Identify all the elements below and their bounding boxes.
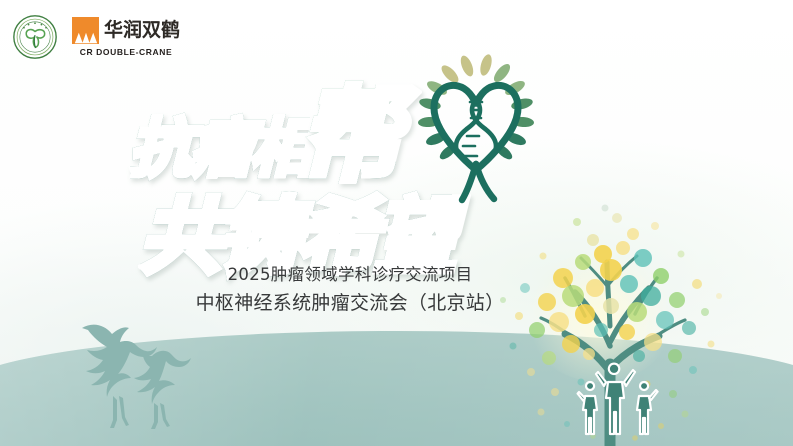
sponsor-chinese-name: 华润双鹤 [104, 21, 180, 40]
crane-small-leg-b [160, 403, 170, 427]
crane-large-leg-a [110, 396, 117, 428]
cr-double-crane-logo: 华润双鹤 CR DOUBLE-CRANE [72, 17, 180, 57]
two-cranes-silhouette [66, 312, 206, 434]
crane-large-leg-b [119, 396, 129, 426]
family-child-left [578, 382, 597, 434]
chevrons-glyph [74, 28, 98, 44]
family-of-three-silhouette [576, 362, 660, 440]
sponsor-english-name: CR DOUBLE-CRANE [80, 47, 173, 57]
family-child-right [637, 382, 658, 434]
heart-dna-leaves-emblem [410, 52, 542, 207]
mountain-chevrons-icon [72, 17, 99, 44]
ribbon-right [476, 164, 494, 199]
cr-logo-top-row: 华润双鹤 [72, 17, 180, 44]
header-logos: 华润双鹤 CR DOUBLE-CRANE [12, 14, 180, 60]
ribbon-left [462, 164, 476, 200]
crane-small [134, 351, 191, 404]
family-adult-center [596, 364, 635, 434]
event-poster: 华润双鹤 CR DOUBLE-CRANE 抗瘤相 帮 共铸希望 [0, 0, 793, 446]
clover-seal-icon [12, 14, 58, 60]
crane-small-leg-a [151, 403, 158, 429]
